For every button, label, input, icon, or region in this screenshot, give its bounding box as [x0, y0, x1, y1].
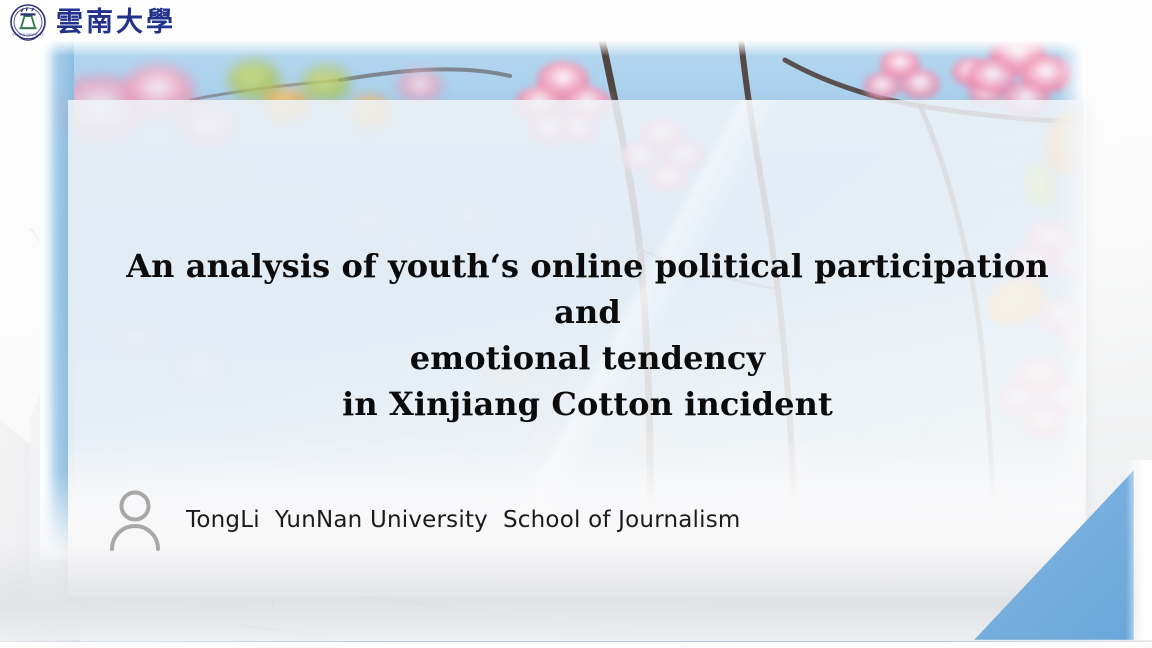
university-seal-icon: YUNNAN UNIVERSITY — [8, 2, 48, 42]
bottom-grey-band — [0, 544, 1152, 640]
university-name: 雲南大學 — [56, 9, 176, 36]
author-byline: TongLi YunNan University School of Journ… — [104, 487, 740, 553]
blue-wedge-right-fade — [1126, 460, 1152, 640]
title-slide: YUNNAN UNIVERSITY 雲南大學 An analysis of yo… — [0, 0, 1152, 648]
author-affiliation-text: TongLi YunNan University School of Journ… — [186, 507, 740, 533]
title-line-2: emotional tendency — [100, 335, 1075, 381]
person-icon — [104, 487, 166, 553]
title-line-3: in Xinjiang Cotton incident — [100, 381, 1075, 427]
page-title: An analysis of youth‘s online political … — [100, 243, 1075, 427]
photo-top-fade — [40, 40, 1086, 56]
svg-text:YUNNAN UNIVERSITY: YUNNAN UNIVERSITY — [12, 32, 45, 36]
university-branding: YUNNAN UNIVERSITY 雲南大學 — [8, 2, 176, 42]
bottom-white-edge — [0, 642, 1152, 648]
title-line-1: An analysis of youth‘s online political … — [100, 243, 1075, 335]
